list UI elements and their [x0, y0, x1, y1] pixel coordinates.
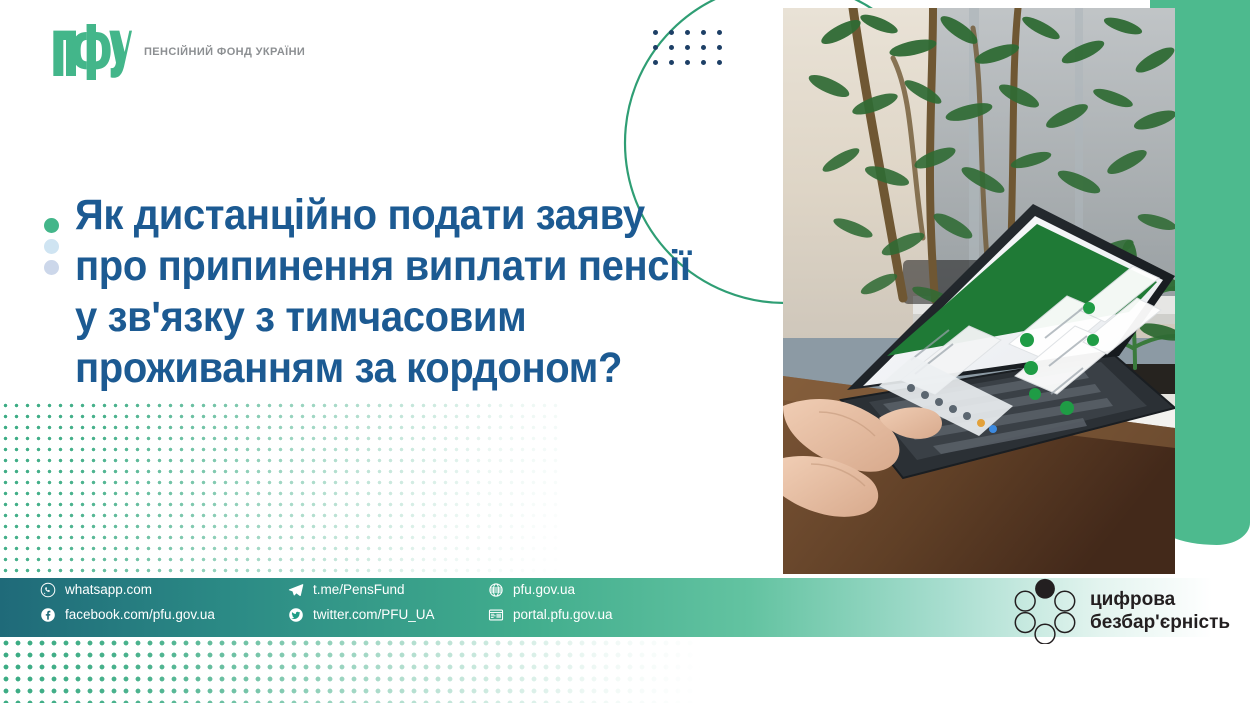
digital-accessibility-logo: цифрова безбар'єрність	[1012, 578, 1230, 644]
footer-link-website[interactable]: pfu.gov.ua	[488, 582, 708, 598]
pfu-logo-mark-icon	[52, 24, 132, 80]
footer-link-facebook[interactable]: facebook.com/pfu.gov.ua	[40, 607, 288, 623]
bullet-green-dot	[44, 218, 59, 233]
bullet-blue-dot	[44, 239, 59, 254]
page-title: Як дистанційно подати заяву про припинен…	[75, 190, 691, 394]
bullet-lavender-dot	[44, 260, 59, 275]
dot-grid-decoration	[653, 30, 733, 75]
footer-column-2: t.me/PensFund twitter.com/PFU_UA	[288, 582, 488, 623]
footer-link-whatsapp[interactable]: whatsapp.com	[40, 582, 288, 598]
accessibility-logo-text: цифрова безбар'єрність	[1090, 588, 1230, 634]
hero-photo	[783, 8, 1175, 574]
telegram-icon	[288, 582, 304, 598]
footer-links: whatsapp.com facebook.com/pfu.gov.ua t.m…	[40, 582, 708, 623]
footer-link-twitter-label: twitter.com/PFU_UA	[313, 607, 435, 623]
footer-link-whatsapp-label: whatsapp.com	[65, 582, 152, 598]
poster-canvas: ПЕНСІЙНИЙ ФОНД УКРАЇНИ Як дистанційно по…	[0, 0, 1250, 703]
footer-link-portal-label: portal.pfu.gov.ua	[513, 607, 613, 623]
twitter-icon	[288, 607, 304, 623]
portal-icon	[488, 607, 504, 623]
footer-column-1: whatsapp.com facebook.com/pfu.gov.ua	[40, 582, 288, 623]
footer-link-website-label: pfu.gov.ua	[513, 582, 575, 598]
headline-block: Як дистанційно подати заяву про припинен…	[44, 190, 737, 394]
hero-photo-illustration	[783, 8, 1175, 574]
facebook-icon	[40, 607, 56, 623]
footer-column-3: pfu.gov.ua portal.pfu.gov.ua	[488, 582, 708, 623]
footer-link-telegram-label: t.me/PensFund	[313, 582, 405, 598]
pfu-logo: ПЕНСІЙНИЙ ФОНД УКРАЇНИ	[52, 24, 305, 80]
bullet-dots	[44, 190, 59, 394]
footer-link-portal[interactable]: portal.pfu.gov.ua	[488, 607, 708, 623]
halftone-pattern-middle	[0, 400, 560, 578]
footer-link-facebook-label: facebook.com/pfu.gov.ua	[65, 607, 215, 623]
pfu-logo-subtitle: ПЕНСІЙНИЙ ФОНД УКРАЇНИ	[144, 45, 305, 60]
footer-link-telegram[interactable]: t.me/PensFund	[288, 582, 488, 598]
accessibility-circles-icon	[1012, 578, 1078, 644]
globe-icon	[488, 582, 504, 598]
halftone-pattern-bottom	[0, 637, 700, 703]
whatsapp-icon	[40, 582, 56, 598]
footer-link-twitter[interactable]: twitter.com/PFU_UA	[288, 607, 488, 623]
